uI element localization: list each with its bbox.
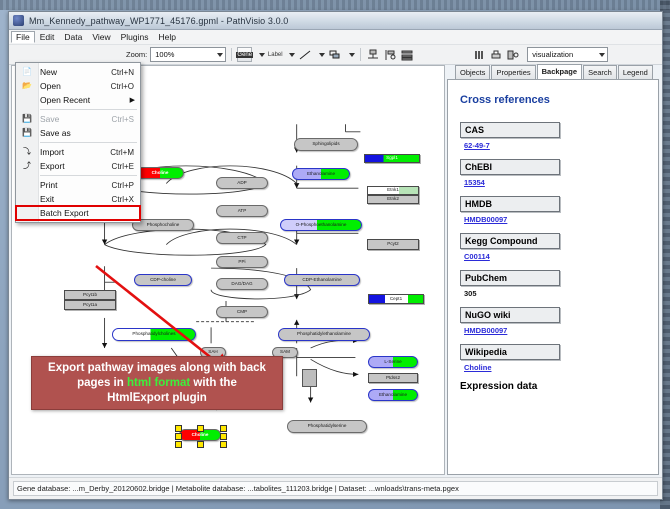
pathway-node[interactable]: L-Serine [368,356,418,368]
menu-item-accel: Ctrl+N [111,68,140,77]
file-menu-dropdown[interactable]: 📄 New Ctrl+N 📂 Open Ctrl+O Open Recent ▶… [15,62,141,223]
xref-db-header: NuGO wiki [460,307,560,323]
xref-value[interactable]: HMDB00097 [464,326,658,335]
annotation-callout: Export pathway images along with back pa… [31,356,283,410]
expression-data-heading: Expression data [460,381,658,392]
toolbar-separator [231,48,232,61]
resize-handle-s[interactable] [197,441,204,448]
menu-item-accel: Ctrl+O [111,82,140,91]
pathway-node[interactable]: CTP [216,232,268,244]
pathway-node[interactable]: Ethanolamine [292,168,350,180]
status-text: Gene database: ...m_Derby_20120602.bridg… [13,481,658,496]
distribute-icon[interactable] [472,48,486,61]
tab-objects[interactable]: Objects [455,65,490,79]
xref-db-header: Wikipedia [460,344,560,360]
menu-item-save[interactable]: 💾 Save Ctrl+S [16,112,140,126]
menu-item-label: Open [38,81,111,91]
menu-separator-2 [40,142,137,143]
menu-separator [40,109,137,110]
xref-db-header: CAS [460,122,560,138]
menu-edit[interactable]: Edit [35,31,60,43]
datanode-label: Gene [236,52,253,58]
pathway-node[interactable]: CDP-Ethanolamine [284,274,360,286]
menu-file[interactable]: File [11,31,35,43]
application-window: Mm_Kennedy_pathway_WP1771_45176.gpml - P… [8,11,663,500]
menu-item-batch-export[interactable]: Batch Export [16,206,140,220]
window-title: Mm_Kennedy_pathway_WP1771_45176.gpml - P… [29,16,288,26]
pathway-node[interactable]: Sphingolipids [294,138,358,151]
save-as-icon: 💾 [16,129,38,137]
menu-item-label: Import [38,147,110,157]
tab-search[interactable]: Search [583,65,617,79]
menu-plugins[interactable]: Plugins [116,31,154,43]
menu-item-accel: Ctrl+X [112,195,140,204]
label-tool-text: Label [268,52,283,58]
annotation-line-3: HtmlExport plugin [107,392,207,404]
xref-value[interactable]: HMDB00097 [464,215,658,224]
annotation-line-2-pre: pages in [77,377,127,389]
resize-handle-sw[interactable] [175,441,182,448]
backpage-content[interactable]: Cross references CAS 62-49-7 ChEBI 15354… [447,79,659,475]
annotation-highlight: html format [127,377,190,389]
pathway-node[interactable]: Ethanolamine [368,389,418,401]
xref-db-header: Kegg Compound [460,233,560,249]
align-left-icon[interactable] [383,48,397,61]
menu-view[interactable]: View [87,31,115,43]
visualization-value: visualization [530,50,573,59]
pathway-node[interactable]: O-Phosphoethanolamine [280,219,362,231]
export-icon: ⤴ [16,162,38,170]
shape-dropdown-icon[interactable] [349,53,355,57]
menu-item-label: Batch Export [38,208,134,218]
shape-tool-button[interactable] [328,48,342,61]
pathway-node[interactable]: ATP [216,205,268,217]
status-bar: Gene database: ...m_Derby_20120602.bridg… [9,477,662,499]
annotation-line-1: Export pathway images along with back [48,362,266,374]
xref-value[interactable]: C00114 [464,252,658,261]
label-dropdown-icon[interactable] [289,53,295,57]
tab-legend[interactable]: Legend [618,65,653,79]
pathway-node[interactable]: Phosphocholine [132,219,194,231]
datanode-tool-button[interactable]: Gene [237,47,252,62]
side-panel: Objects Properties Backpage Search Legen… [447,65,659,475]
selected-node-group[interactable]: Choline [172,422,228,448]
pathway-node[interactable]: Choline [136,167,184,179]
save-disk-icon: 💾 [16,115,38,123]
datanode-dropdown-icon[interactable] [259,53,265,57]
resize-handle-n[interactable] [197,425,204,432]
pathway-node[interactable]: ADP [216,177,268,189]
menu-item-new[interactable]: 📄 New Ctrl+N [16,65,140,79]
new-file-icon: 📄 [16,68,38,76]
menu-item-label: Save as [38,128,134,138]
pathway-gene-node[interactable]: Sgpl1 [364,154,420,163]
zoom-combobox[interactable]: 100% [150,47,226,62]
xref-db-header: PubChem [460,270,560,286]
open-folder-icon: 📂 [16,82,38,90]
xref-value[interactable]: 62-49-7 [464,141,658,150]
menu-item-label: New [38,67,111,77]
pathway-gene-node[interactable]: Cept1 [368,294,424,304]
resize-handle-e[interactable] [220,433,227,440]
menu-item-accel: Ctrl+S [112,115,140,124]
tab-properties[interactable]: Properties [491,65,535,79]
xref-value[interactable]: 15354 [464,178,658,187]
annotation-line-2-post: with the [190,377,237,389]
pathway-gene-node[interactable]: Pcyt2 [367,239,419,250]
tab-backpage[interactable]: Backpage [537,64,582,79]
menu-item-label: Open Recent [38,95,130,105]
menu-item-print[interactable]: Print Ctrl+P [16,178,140,192]
menu-item-open[interactable]: 📂 Open Ctrl+O [16,79,140,93]
side-panel-tabs: Objects Properties Backpage Search Legen… [447,65,659,79]
menu-item-label: Exit [38,194,112,204]
import-icon: ⤵ [16,148,38,156]
pathway-node[interactable]: Phosphatidylserine [287,420,367,433]
menu-item-label: Save [38,114,112,124]
print-icon[interactable] [489,48,503,61]
resize-handle-nw[interactable] [175,425,182,432]
pathway-node[interactable]: Phosphatidylethanolamine [278,328,370,341]
menu-item-label: Export [38,161,112,171]
submenu-arrow-icon: ▶ [130,96,140,104]
pathway-stub-shape[interactable] [302,369,317,387]
pathway-gene-node[interactable]: Etnk2 [367,195,419,204]
line-tool-button[interactable] [298,48,312,61]
zoom-value: 100% [153,50,174,59]
menu-item-open-recent[interactable]: Open Recent ▶ [16,93,140,107]
toolbar-separator-2 [360,48,361,61]
title-bar: Mm_Kennedy_pathway_WP1771_45176.gpml - P… [9,12,662,30]
align-center-icon[interactable] [366,48,380,61]
menu-item-accel: Ctrl+P [112,181,140,190]
xref-db-header: ChEBI [460,159,560,175]
resize-handle-se[interactable] [220,441,227,448]
menu-item-accel: Ctrl+E [112,162,140,171]
menu-item-export[interactable]: ⤴ Export Ctrl+E [16,159,140,173]
annotation-text: Export pathway images along with back pa… [42,361,272,406]
menu-bar: File Edit Data View Plugins Help [9,30,662,45]
xref-link[interactable]: Choline [464,363,492,372]
menu-help[interactable]: Help [154,31,181,43]
menu-data[interactable]: Data [59,31,87,43]
menu-item-accel: Ctrl+M [110,148,140,157]
resize-handle-ne[interactable] [220,425,227,432]
pathway-gene-node[interactable]: Etnk1 [367,186,419,195]
label-tool-button[interactable]: Label [268,48,282,61]
menu-item-import[interactable]: ⤵ Import Ctrl+M [16,145,140,159]
menu-separator-3 [40,175,137,176]
menu-item-save-as[interactable]: 💾 Save as [16,126,140,140]
xref-link[interactable]: HMDB00097 [464,215,507,224]
resize-handle-w[interactable] [175,433,182,440]
stack-icon[interactable] [400,48,414,61]
xref-link[interactable]: HMDB00097 [464,326,507,335]
xref-db-header: HMDB [460,196,560,212]
line-dropdown-icon[interactable] [319,53,325,57]
zoom-label: Zoom: [126,50,147,59]
visualization-combobox[interactable]: visualization [527,47,608,62]
xref-link[interactable]: 62-49-7 [464,141,490,150]
pathway-gene-node[interactable]: Ptdss2 [368,373,418,383]
menu-item-label: Print [38,180,112,190]
visualization-chevron-down-icon [599,53,605,57]
order-icon[interactable] [506,48,520,61]
cross-references-heading: Cross references [460,94,658,106]
pathvisio-app-icon [13,15,24,26]
xref-link[interactable]: C00114 [464,252,490,261]
xref-value[interactable]: Choline [464,363,658,372]
xref-link[interactable]: 15354 [464,178,485,187]
menu-item-exit[interactable]: Exit Ctrl+X [16,192,140,206]
chevron-down-icon [217,53,223,57]
xref-value: 305 [464,289,658,298]
